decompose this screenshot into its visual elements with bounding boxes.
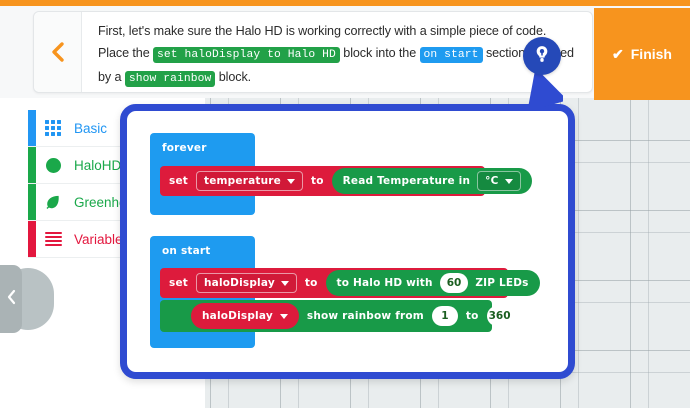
block-on-start-label: on start bbox=[162, 245, 211, 257]
variable-dropdown-temperature[interactable]: temperature bbox=[196, 171, 303, 191]
set-keyword-label: set bbox=[169, 175, 188, 187]
to-keyword-label: to bbox=[305, 277, 318, 289]
read-temperature-label: Read Temperature in bbox=[343, 175, 471, 187]
block-forever-label: forever bbox=[162, 142, 207, 154]
temperature-unit-dropdown[interactable]: °C bbox=[477, 171, 520, 191]
variable-name-label: haloDisplay bbox=[202, 310, 273, 322]
rainbow-to-field[interactable]: 360 bbox=[487, 306, 513, 326]
rainbow-to-label: to bbox=[466, 310, 479, 322]
rainbow-from-field[interactable]: 1 bbox=[432, 306, 458, 326]
show-rainbow-label: show rainbow from bbox=[307, 310, 424, 322]
chevron-down-icon bbox=[505, 179, 513, 184]
chevron-down-icon bbox=[280, 314, 288, 319]
set-keyword-label: set bbox=[169, 277, 188, 289]
chevron-down-icon bbox=[287, 179, 295, 184]
block-read-temperature[interactable]: Read Temperature in °C bbox=[332, 168, 532, 194]
block-to-halo-hd-with-zip-leds[interactable]: to Halo HD with 60 ZIP LEDs bbox=[326, 270, 540, 296]
temperature-unit-label: °C bbox=[485, 175, 498, 187]
halo-hd-suffix-label: ZIP LEDs bbox=[475, 277, 528, 289]
zip-led-count-field[interactable]: 60 bbox=[440, 273, 469, 293]
chevron-down-icon bbox=[281, 281, 289, 286]
blockly-workspace: forever set temperature to Read Temperat… bbox=[0, 0, 690, 408]
block-show-rainbow[interactable]: haloDisplay show rainbow from 1 to 360 bbox=[160, 300, 492, 332]
variable-name-label: temperature bbox=[204, 175, 281, 187]
variable-dropdown-halodisplay[interactable]: haloDisplay bbox=[196, 273, 297, 293]
top-accent-bar bbox=[0, 0, 690, 6]
to-keyword-label: to bbox=[311, 175, 324, 187]
variable-reporter-halodisplay[interactable]: haloDisplay bbox=[191, 303, 299, 329]
block-set-halodisplay[interactable]: set haloDisplay to to Halo HD with 60 ZI… bbox=[160, 268, 508, 298]
halo-hd-prefix-label: to Halo HD with bbox=[337, 277, 433, 289]
variable-name-label: haloDisplay bbox=[204, 277, 275, 289]
makecode-editor-screen: First, let's make sure the Halo HD is wo… bbox=[0, 0, 690, 408]
block-set-temperature[interactable]: set temperature to Read Temperature in °… bbox=[160, 166, 485, 196]
